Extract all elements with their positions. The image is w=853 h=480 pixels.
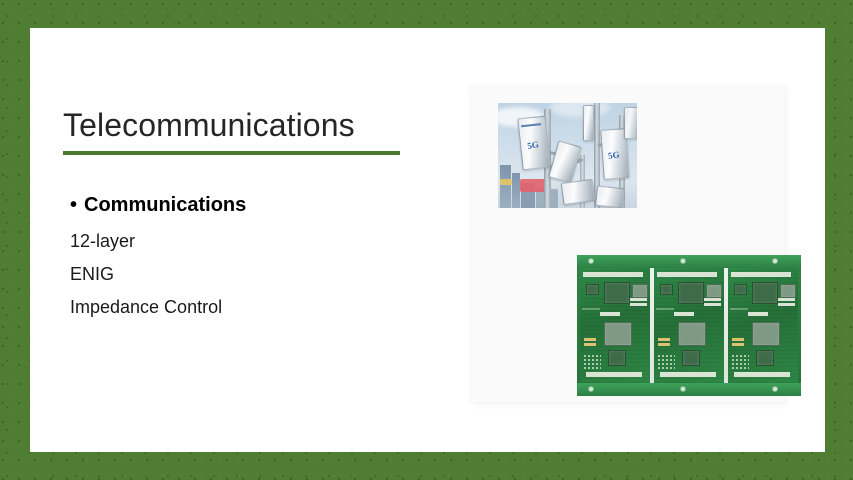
edge-pad-row bbox=[583, 272, 643, 277]
ic-component bbox=[780, 284, 796, 298]
gold-finger-pad bbox=[584, 343, 596, 346]
antenna-band bbox=[521, 123, 541, 127]
ic-component bbox=[756, 350, 774, 366]
ic-component bbox=[608, 350, 626, 366]
tooling-hole bbox=[589, 387, 593, 391]
tooling-hole bbox=[681, 387, 685, 391]
page-title: Telecommunications bbox=[63, 106, 355, 144]
yellow-accent-shape bbox=[500, 179, 512, 185]
via-array bbox=[583, 354, 601, 370]
sub-line-layer-count: 12-layer bbox=[70, 225, 430, 258]
edge-pad-row bbox=[734, 372, 790, 377]
tooling-hole bbox=[589, 259, 593, 263]
ic-component bbox=[706, 284, 722, 298]
via-array bbox=[657, 354, 675, 370]
tooling-hole bbox=[681, 259, 685, 263]
gold-finger-pad bbox=[732, 338, 744, 341]
ic-component bbox=[752, 322, 780, 346]
copper-trace bbox=[656, 308, 674, 310]
building-shape bbox=[512, 173, 520, 208]
pcb-top-rail bbox=[577, 255, 801, 268]
pcb-panel-photo bbox=[577, 255, 801, 396]
solder-pad bbox=[630, 298, 647, 301]
ic-component bbox=[678, 282, 704, 304]
pcb-board-section bbox=[580, 268, 650, 383]
solder-pad bbox=[674, 312, 694, 316]
solder-pad bbox=[748, 312, 768, 316]
ic-component bbox=[682, 350, 700, 366]
solder-pad bbox=[630, 303, 647, 306]
operator-logo-icon: 5G bbox=[607, 149, 620, 161]
bullet-heading-line: •Communications bbox=[70, 191, 430, 219]
operator-logo-icon: 5G bbox=[526, 139, 539, 151]
gold-finger-pad bbox=[658, 338, 670, 341]
solder-pad bbox=[778, 298, 795, 301]
edge-pad-row bbox=[731, 272, 791, 277]
antenna-whip bbox=[583, 105, 594, 141]
solder-pad bbox=[778, 303, 795, 306]
tooling-hole bbox=[773, 259, 777, 263]
antenna-panel bbox=[561, 179, 596, 205]
ic-component bbox=[586, 284, 599, 295]
antenna-panel: 5G bbox=[517, 116, 550, 171]
building-shape bbox=[500, 165, 511, 208]
tooling-hole bbox=[773, 387, 777, 391]
ic-component bbox=[604, 282, 630, 304]
ic-component bbox=[678, 322, 706, 346]
solder-pad bbox=[704, 298, 721, 301]
copper-trace bbox=[582, 308, 600, 310]
ic-component bbox=[752, 282, 778, 304]
ic-component bbox=[660, 284, 673, 295]
edge-pad-row bbox=[660, 372, 716, 377]
solder-pad bbox=[704, 303, 721, 306]
cell-tower-antennas-photo: 5G 5G bbox=[498, 103, 637, 208]
solder-pad bbox=[600, 312, 620, 316]
gold-finger-pad bbox=[732, 343, 744, 346]
gold-finger-pad bbox=[584, 338, 596, 341]
ic-component bbox=[632, 284, 648, 298]
edge-pad-row bbox=[586, 372, 642, 377]
pcb-bottom-rail bbox=[577, 383, 801, 396]
antenna-panel bbox=[595, 186, 625, 208]
pcb-board-section bbox=[728, 268, 798, 383]
ic-component bbox=[604, 322, 632, 346]
antenna-panel bbox=[624, 107, 637, 139]
slide-canvas: Telecommunications •Communications 12-la… bbox=[30, 28, 825, 452]
body-text-block: •Communications 12-layer ENIG Impedance … bbox=[70, 191, 430, 324]
via-array bbox=[731, 354, 749, 370]
sub-line-finish: ENIG bbox=[70, 258, 430, 291]
bullet-dot-icon: • bbox=[70, 191, 77, 219]
pcb-board-section bbox=[654, 268, 724, 383]
bullet-heading-label: Communications bbox=[84, 194, 246, 216]
gold-finger-pad bbox=[658, 343, 670, 346]
ic-component bbox=[734, 284, 747, 295]
edge-pad-row bbox=[657, 272, 717, 277]
copper-trace bbox=[730, 308, 748, 310]
title-underline-rule bbox=[63, 151, 400, 155]
sub-line-impedance: Impedance Control bbox=[70, 291, 430, 324]
